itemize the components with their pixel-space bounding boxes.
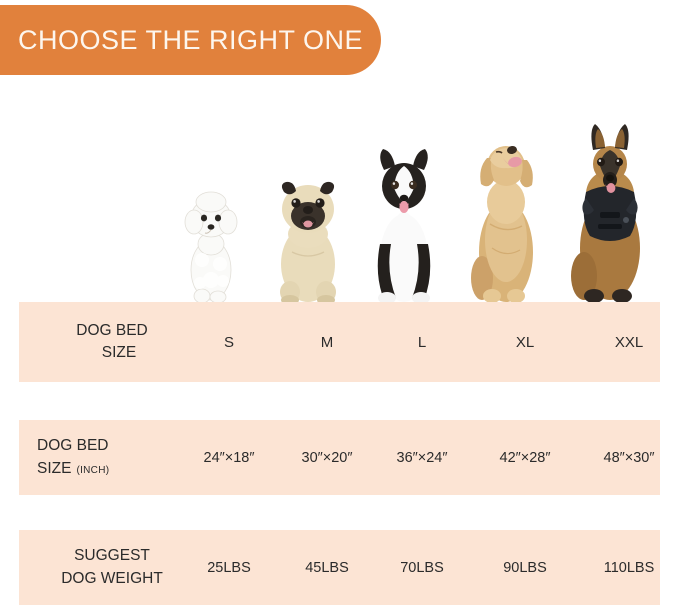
cell-dimensions-s: 24″×18″	[204, 420, 255, 495]
infographic-root: CHOOSE THE RIGHT ONE	[0, 0, 679, 616]
cell-size-s: S	[224, 302, 234, 382]
table-row-weight: SUGGEST DOG WEIGHT 25LBS 45LBS 70LBS 90L…	[19, 530, 660, 605]
cell-weight-s: 25LBS	[207, 530, 251, 605]
cell-size-xl: XL	[516, 302, 534, 382]
cell-size-m: M	[321, 302, 334, 382]
row-label-unit: (INCH)	[76, 465, 109, 476]
cell-dimensions-l: 36″×24″	[397, 420, 448, 495]
size-chart-table: DOG BED SIZE S M L XL XXL DOG BED SIZE(I…	[0, 0, 679, 616]
cell-weight-m: 45LBS	[305, 530, 349, 605]
row-label-weight: SUGGEST DOG WEIGHT	[27, 530, 197, 605]
row-label-line-1: SUGGEST	[74, 545, 150, 567]
cell-weight-l: 70LBS	[400, 530, 444, 605]
table-row-size: DOG BED SIZE S M L XL XXL	[19, 302, 660, 382]
row-label-size-word: SIZE	[37, 460, 71, 477]
cell-dimensions-xl: 42″×28″	[500, 420, 551, 495]
cell-size-xxl: XXL	[615, 302, 643, 382]
table-row-dimensions: DOG BED SIZE(INCH) 24″×18″ 30″×20″ 36″×2…	[19, 420, 660, 495]
row-label-dimensions: DOG BED SIZE(INCH)	[27, 420, 207, 495]
row-label-line-2: SIZE(INCH)	[37, 458, 109, 480]
row-label-line-2: DOG WEIGHT	[61, 568, 163, 590]
row-label-size: DOG BED SIZE	[27, 302, 197, 382]
row-label-line-2: SIZE	[88, 342, 136, 364]
cell-dimensions-m: 30″×20″	[302, 420, 353, 495]
cell-size-l: L	[418, 302, 426, 382]
row-label-line-1: DOG BED	[76, 320, 147, 342]
cell-dimensions-xxl: 48″×30″	[604, 420, 655, 495]
cell-weight-xxl: 110LBS	[604, 530, 655, 605]
cell-weight-xl: 90LBS	[503, 530, 547, 605]
row-label-line-1: DOG BED	[37, 435, 108, 457]
